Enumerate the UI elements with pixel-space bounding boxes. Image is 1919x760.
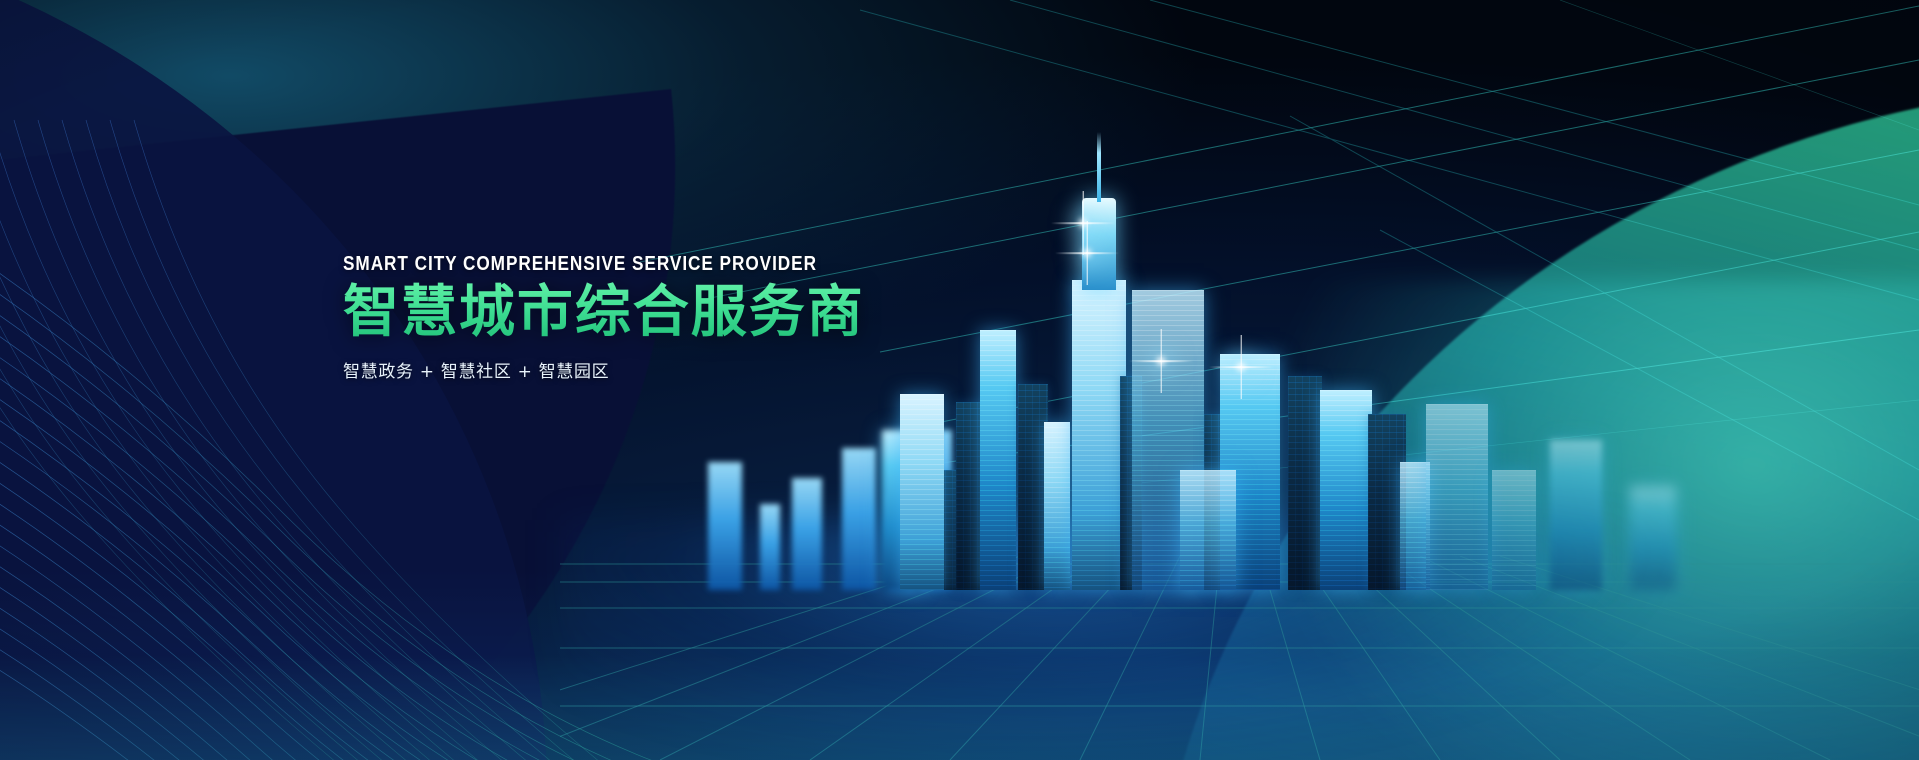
building-far-right-dark bbox=[1288, 376, 1322, 590]
central-tower-spire bbox=[1097, 132, 1101, 202]
banner-copy-block: SMART CITY COMPREHENSIVE SERVICE PROVIDE… bbox=[343, 253, 1163, 382]
bottom-atmospheric-haze bbox=[0, 570, 1919, 760]
building-green-edge bbox=[1426, 404, 1488, 590]
banner-eyebrow-text: SMART CITY COMPREHENSIVE SERVICE PROVIDE… bbox=[343, 253, 1048, 276]
foreground-bar-4 bbox=[842, 448, 876, 590]
smart-city-banner: SMART CITY COMPREHENSIVE SERVICE PROVIDE… bbox=[0, 0, 1919, 760]
building-green-edge-3 bbox=[1550, 440, 1602, 590]
banner-subline: 智慧政务 + 智慧社区 + 智慧园区 bbox=[343, 357, 1163, 382]
banner-headline: 智慧城市综合服务商 bbox=[343, 282, 1163, 345]
building-tower-left-pale bbox=[1044, 422, 1070, 590]
lens-flare-right-block bbox=[1240, 366, 1242, 368]
lens-flare-spire bbox=[1082, 222, 1084, 224]
building-midground-3 bbox=[900, 394, 944, 590]
building-far-right-1 bbox=[1320, 390, 1372, 590]
